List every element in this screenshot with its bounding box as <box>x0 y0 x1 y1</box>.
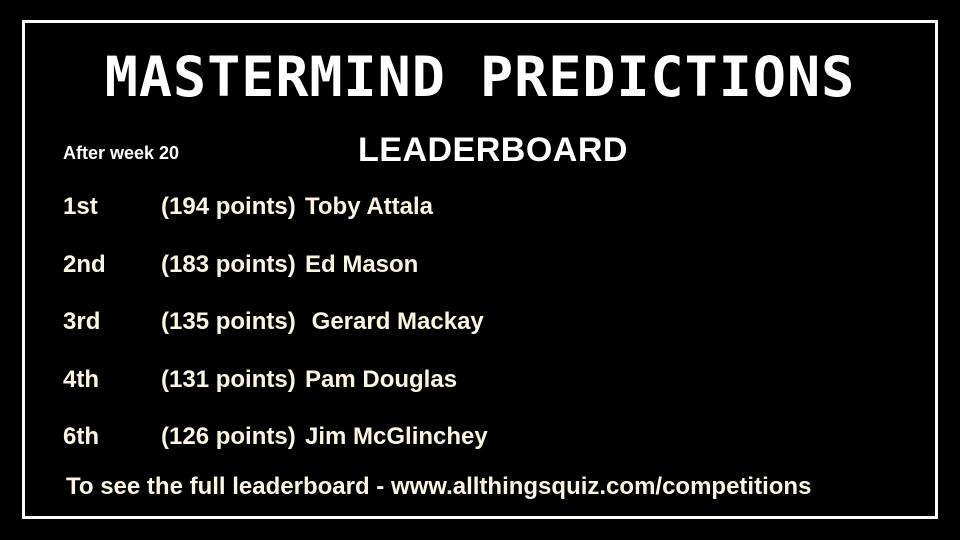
row-name: Jim McGlinchey <box>305 422 488 452</box>
row-points: (135 points) <box>161 307 296 337</box>
row-name: Gerard Mackay <box>305 307 484 337</box>
table-row: 2nd (183 points) Ed Mason <box>0 250 960 308</box>
table-row: 1st (194 points) Toby Attala <box>0 192 960 250</box>
row-name: Pam Douglas <box>305 365 457 395</box>
row-rank: 3rd <box>63 307 100 337</box>
table-row: 4th (131 points) Pam Douglas <box>0 365 960 423</box>
row-points: (194 points) <box>161 192 296 222</box>
page-title: MASTERMIND PREDICTIONS <box>0 46 960 108</box>
full-leaderboard-link-text: To see the full leaderboard - www.allthi… <box>66 472 811 502</box>
table-row: 6th (126 points) Jim McGlinchey <box>0 422 960 480</box>
row-rank: 1st <box>63 192 98 222</box>
row-name: Toby Attala <box>305 192 433 222</box>
row-points: (126 points) <box>161 422 296 452</box>
row-points: (183 points) <box>161 250 296 280</box>
row-points: (131 points) <box>161 365 296 395</box>
after-week-label: After week 20 <box>63 142 179 164</box>
row-name: Ed Mason <box>305 250 418 280</box>
leaderboard-subtitle: LEADERBOARD <box>358 130 628 170</box>
table-row: 3rd (135 points) Gerard Mackay <box>0 307 960 365</box>
leaderboard-list: 1st (194 points) Toby Attala 2nd (183 po… <box>0 192 960 480</box>
row-rank: 2nd <box>63 250 106 280</box>
row-rank: 4th <box>63 365 99 395</box>
slide-root: MASTERMIND PREDICTIONS After week 20 LEA… <box>0 0 960 540</box>
row-rank: 6th <box>63 422 99 452</box>
